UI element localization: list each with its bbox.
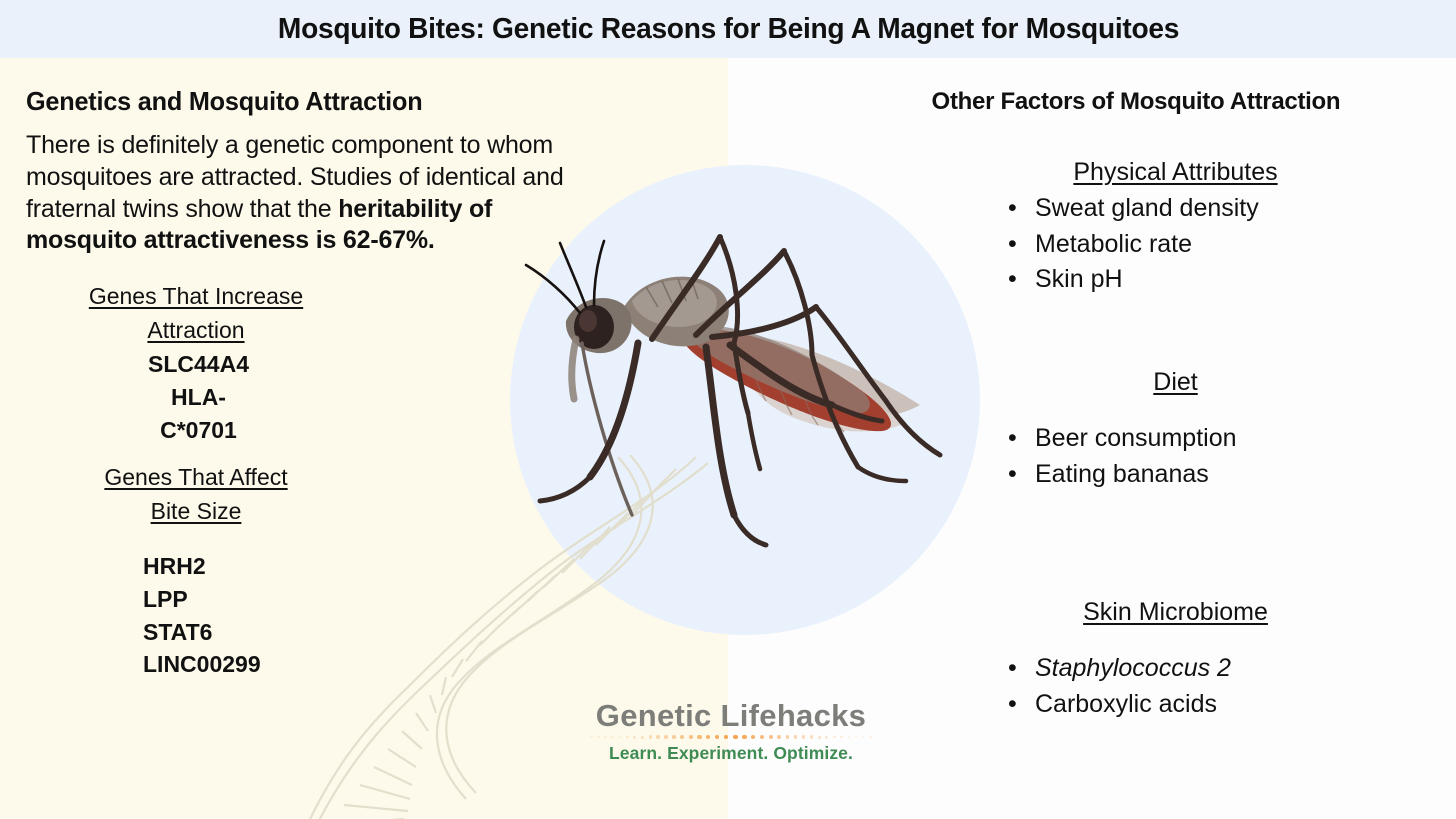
logo-dot — [715, 735, 719, 739]
gene-item: HRH2 — [143, 550, 578, 583]
logo-dot — [794, 735, 798, 739]
logo-dot — [825, 736, 828, 739]
list-item-label: Beer consumption — [1035, 424, 1237, 452]
logo-dot — [840, 736, 843, 739]
gene-item: STAT6 — [143, 616, 578, 649]
header-bar: Mosquito Bites: Genetic Reasons for Bein… — [0, 0, 1456, 58]
logo-dot — [848, 736, 851, 739]
list-item-label: Staphylococcus 2 — [1035, 654, 1231, 682]
bullet-icon: • — [1008, 457, 1017, 493]
logo-dot — [862, 736, 865, 739]
logo-name: Genetic Lifehacks — [566, 700, 896, 733]
bullet-icon: • — [1008, 262, 1017, 298]
factor-item-list: • Sweat gland density • Metabolic rate •… — [910, 191, 1456, 298]
logo-dot — [611, 736, 614, 739]
factor-section-skin-microbiome: Skin Microbiome • Staphylococcus 2 • Car… — [910, 598, 1456, 722]
page-title: Mosquito Bites: Genetic Reasons for Bein… — [277, 13, 1178, 46]
logo-dot — [733, 735, 738, 740]
logo-dot — [697, 735, 701, 739]
list-item: • Staphylococcus 2 — [1035, 651, 1456, 687]
list-item-label: Eating bananas — [1035, 460, 1209, 488]
logo-dot — [742, 735, 746, 739]
genes-increase-attraction-list: SLC44A4 HLA- C*0701 — [26, 348, 371, 447]
logo-dot — [802, 735, 805, 738]
genes-affect-bite-size-list: HRH2 LPP STAT6 LINC00299 — [26, 550, 578, 682]
left-panel-heading: Genetics and Mosquito Attraction — [26, 86, 561, 117]
bullet-icon: • — [1008, 421, 1017, 457]
genes-affect-bite-size-title: Genes That Affect Bite Size — [26, 460, 366, 528]
logo-dot — [724, 735, 729, 740]
factor-section-title: Physical Attributes — [958, 158, 1393, 187]
logo-dot — [760, 735, 764, 739]
logo-dot — [633, 736, 636, 739]
logo-dot — [769, 735, 773, 739]
genes-increase-attraction-title: Genes That Increase Attraction — [26, 279, 366, 347]
list-item-label: Skin pH — [1035, 265, 1123, 293]
logo-dot — [590, 736, 593, 739]
gene-item: LPP — [143, 583, 578, 616]
factor-section-title: Diet — [958, 368, 1393, 397]
gene-item: SLC44A4 — [26, 348, 371, 381]
logo-dot — [777, 735, 781, 739]
logo-dot — [656, 735, 659, 738]
genes-increase-title-line-2: Attraction — [147, 317, 244, 343]
gene-item: C*0701 — [26, 414, 371, 447]
factor-section-diet: Diet • Beer consumption • Eating bananas — [910, 368, 1456, 492]
logo-dot — [706, 735, 710, 739]
logo-dot — [619, 736, 622, 739]
list-item-label: Sweat gland density — [1035, 194, 1259, 222]
intro-paragraph: There is definitely a genetic component … — [26, 130, 578, 257]
list-item: • Carboxylic acids — [1035, 687, 1456, 723]
logo-dot — [751, 735, 755, 739]
logo-dot — [664, 735, 668, 739]
genes-increase-title-line-1: Genes That Increase — [89, 283, 303, 309]
factor-section-title: Skin Microbiome — [958, 598, 1393, 627]
logo-dot — [604, 736, 607, 739]
list-item: • Metabolic rate — [1035, 227, 1456, 263]
logo-dot — [810, 735, 813, 738]
bullet-icon: • — [1008, 651, 1017, 687]
right-panel-heading: Other Factors of Mosquito Attraction — [910, 88, 1445, 116]
logo-dot — [818, 736, 821, 739]
logo-dot — [649, 735, 652, 738]
logo-dot — [626, 736, 629, 739]
logo-dot — [869, 736, 872, 739]
gene-item: LINC00299 — [143, 648, 578, 681]
list-item-label: Metabolic rate — [1035, 230, 1192, 258]
list-item: • Beer consumption — [1035, 421, 1456, 457]
logo-dot — [597, 736, 600, 739]
logo-dot — [641, 736, 644, 739]
list-item: • Sweat gland density — [1035, 191, 1456, 227]
factor-item-list: • Beer consumption • Eating bananas — [910, 421, 1456, 492]
list-item-label: Carboxylic acids — [1035, 690, 1217, 718]
bullet-icon: • — [1008, 191, 1017, 227]
gene-item: HLA- — [26, 381, 371, 414]
logo-dot-divider — [590, 734, 872, 741]
genes-bite-title-line-2: Bite Size — [151, 498, 242, 524]
bullet-icon: • — [1008, 227, 1017, 263]
list-item: • Eating bananas — [1035, 457, 1456, 493]
left-panel: Genetics and Mosquito Attraction There i… — [0, 58, 600, 819]
logo-dot — [689, 735, 693, 739]
logo-dot — [680, 735, 684, 739]
logo-dot — [672, 735, 676, 739]
factor-section-physical-attributes: Physical Attributes • Sweat gland densit… — [910, 158, 1456, 298]
logo-tagline: Learn. Experiment. Optimize. — [566, 743, 896, 764]
logo-dot — [786, 735, 790, 739]
logo-dot — [855, 736, 858, 739]
list-item: • Skin pH — [1035, 262, 1456, 298]
bullet-icon: • — [1008, 687, 1017, 723]
genes-bite-title-line-1: Genes That Affect — [104, 464, 287, 490]
right-panel: Other Factors of Mosquito Attraction Phy… — [910, 58, 1456, 819]
factor-item-list: • Staphylococcus 2 • Carboxylic acids — [910, 651, 1456, 722]
logo-dot — [833, 736, 836, 739]
brand-logo: Genetic Lifehacks Learn. Experiment. Opt… — [566, 700, 896, 770]
